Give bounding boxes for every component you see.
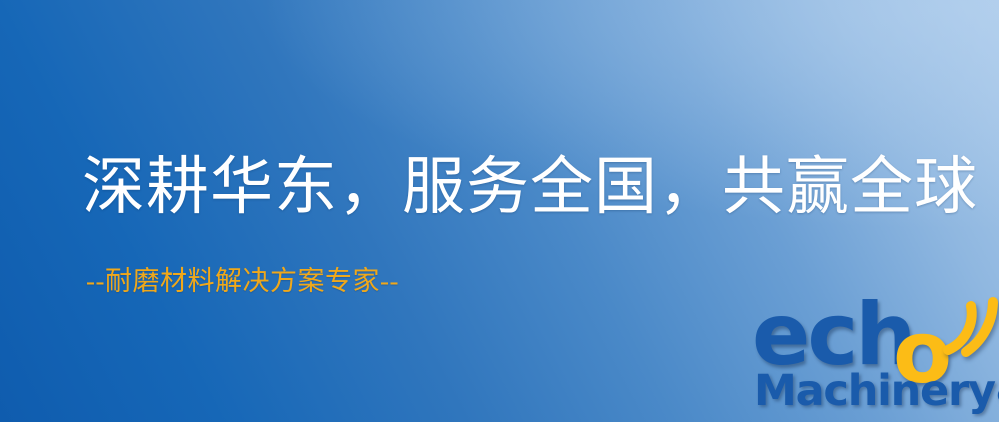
logo-wordmark-machinery: Machinery® xyxy=(754,366,999,416)
banner-headline: 深耕华东，服务全国，共赢全球 xyxy=(82,146,952,228)
logo-wordmark-echo: ech o xyxy=(752,294,999,376)
logo-text-machinery: Machinery xyxy=(754,366,995,416)
echo-signal-arcs-icon xyxy=(938,290,999,360)
promotional-banner: 深耕华东，服务全国，共赢全球 --耐磨材料解决方案专家-- ech o Mach… xyxy=(0,0,999,422)
banner-subtitle: --耐磨材料解决方案专家-- xyxy=(86,264,399,298)
echo-machinery-logo: ech o Machinery® xyxy=(752,294,999,422)
registered-trademark-icon: ® xyxy=(995,384,999,408)
